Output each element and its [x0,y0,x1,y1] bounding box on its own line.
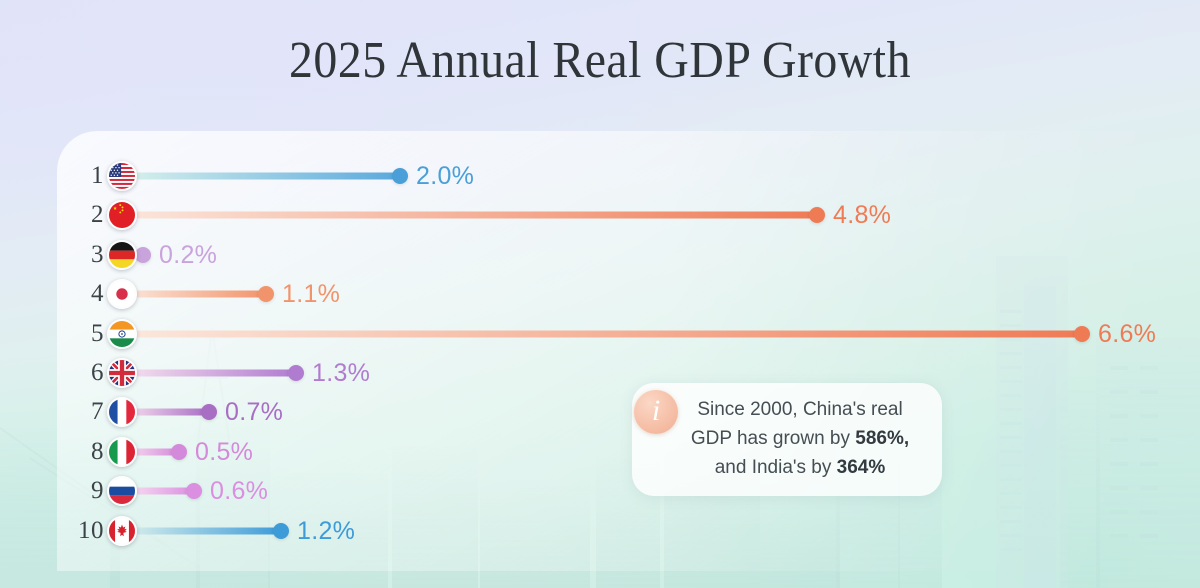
bar-endpoint-dot[interactable] [258,286,274,302]
flag-india-icon[interactable] [107,319,137,349]
rank-number: 4 [58,279,104,309]
flag-italy-icon[interactable] [107,437,137,467]
bar-value-label: 1.3% [312,359,370,387]
bar-endpoint-dot[interactable] [186,483,202,499]
rank-number: 8 [58,437,104,467]
bar-endpoint-dot[interactable] [809,207,825,223]
flag-united-kingdom-icon[interactable] [107,358,137,388]
bar-endpoint-dot[interactable] [171,444,187,460]
bar-value-label: 6.6% [1098,320,1156,348]
bar-endpoint-dot[interactable] [273,523,289,539]
bar-endpoint-dot[interactable] [392,168,408,184]
bar-track [122,173,400,180]
bar-track-group [122,328,1082,340]
bar-track-group [122,288,266,300]
chart-row: 41.1% [0,275,1200,313]
chart-row: 6 1.3% [0,354,1200,392]
bar-value-label: 0.5% [195,438,253,466]
bar-value-label: 1.2% [297,517,355,545]
info-line-2-prefix: GDP has grown by [691,428,855,449]
flag-germany-icon[interactable] [107,240,137,270]
chart-row: 10 1.2% [0,512,1200,550]
gdp-growth-bar-chart: 1 2.0%2 4.8%30.2%41.1%56.6%6 1.3%70.7%80… [0,0,1200,588]
chart-row: 70.7% [0,393,1200,431]
info-line-1: Since 2000, China's real [697,399,902,420]
bar-endpoint-dot[interactable] [1074,326,1090,342]
bar-value-label: 0.2% [159,241,217,269]
flag-japan-icon[interactable] [107,279,137,309]
bar-track-group [122,209,817,221]
rank-number: 2 [58,200,104,230]
chart-row: 30.2% [0,236,1200,274]
info-line-3-prefix: and India's by [715,457,837,478]
rank-number: 9 [58,476,104,506]
flag-united-states-icon[interactable] [107,161,137,191]
bar-track-group [122,170,400,182]
bar-value-label: 2.0% [416,162,474,190]
rank-number: 7 [58,397,104,427]
bar-value-label: 4.8% [833,201,891,229]
bar-track [122,212,817,219]
rank-number: 10 [58,516,104,546]
flag-canada-icon[interactable] [107,516,137,546]
flag-china-icon[interactable] [107,200,137,230]
rank-number: 3 [58,240,104,270]
flag-russia-icon[interactable] [107,476,137,506]
flag-france-icon[interactable] [107,397,137,427]
rank-number: 6 [58,358,104,388]
bar-track [122,291,266,298]
bar-value-label: 1.1% [282,280,340,308]
bar-track [122,370,296,377]
bar-endpoint-dot[interactable] [288,365,304,381]
bar-endpoint-dot[interactable] [135,247,151,263]
bar-endpoint-dot[interactable] [201,404,217,420]
info-callout-text: Since 2000, China's real GDP has grown b… [670,395,930,482]
rank-number: 1 [58,161,104,191]
bar-track-group [122,367,296,379]
bar-track [122,330,1082,337]
chart-row: 2 4.8% [0,196,1200,234]
info-callout: i Since 2000, China's real GDP has grown… [632,383,942,496]
bar-track-group [122,525,281,537]
chart-row: 80.5% [0,433,1200,471]
rank-number: 5 [58,319,104,349]
chart-row: 56.6% [0,315,1200,353]
chart-row: 1 2.0% [0,157,1200,195]
bar-value-label: 0.6% [210,477,268,505]
chart-row: 90.6% [0,472,1200,510]
india-growth-value: 364% [837,457,886,478]
bar-track [122,527,281,534]
china-growth-value: 586%, [855,428,909,449]
bar-value-label: 0.7% [225,398,283,426]
